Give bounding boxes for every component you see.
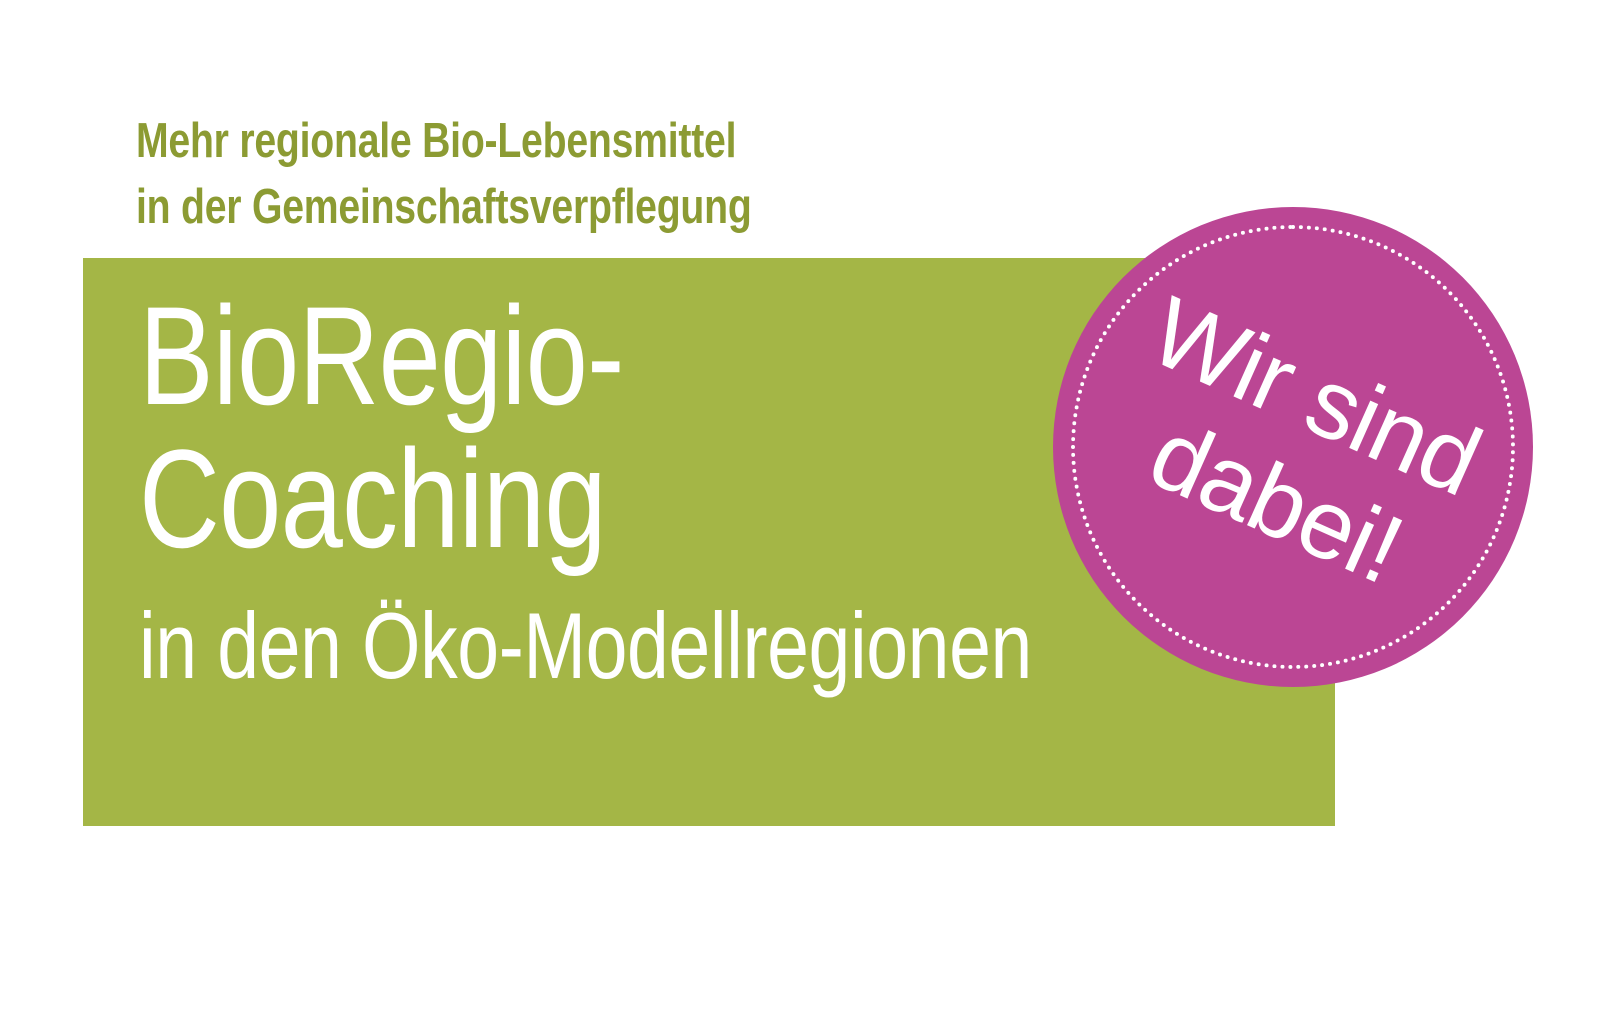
logo-canvas: Mehr regionale Bio-Lebensmittel in der G… [0, 0, 1623, 1032]
headline: BioRegio- Coaching [139, 284, 979, 570]
subheadline: in den Öko-Modellregionen [139, 596, 1139, 696]
tagline-line-2: in der Gemeinschaftsverpflegung [136, 174, 856, 240]
badge-text: Wir sind dabei! [976, 130, 1610, 764]
headline-line-1: BioRegio- [139, 284, 979, 427]
tagline: Mehr regionale Bio-Lebensmittel in der G… [136, 108, 856, 240]
headline-line-2: Coaching [139, 427, 979, 570]
wir-sind-dabei-badge: Wir sind dabei! [1053, 207, 1533, 687]
tagline-line-1: Mehr regionale Bio-Lebensmittel [136, 108, 856, 174]
